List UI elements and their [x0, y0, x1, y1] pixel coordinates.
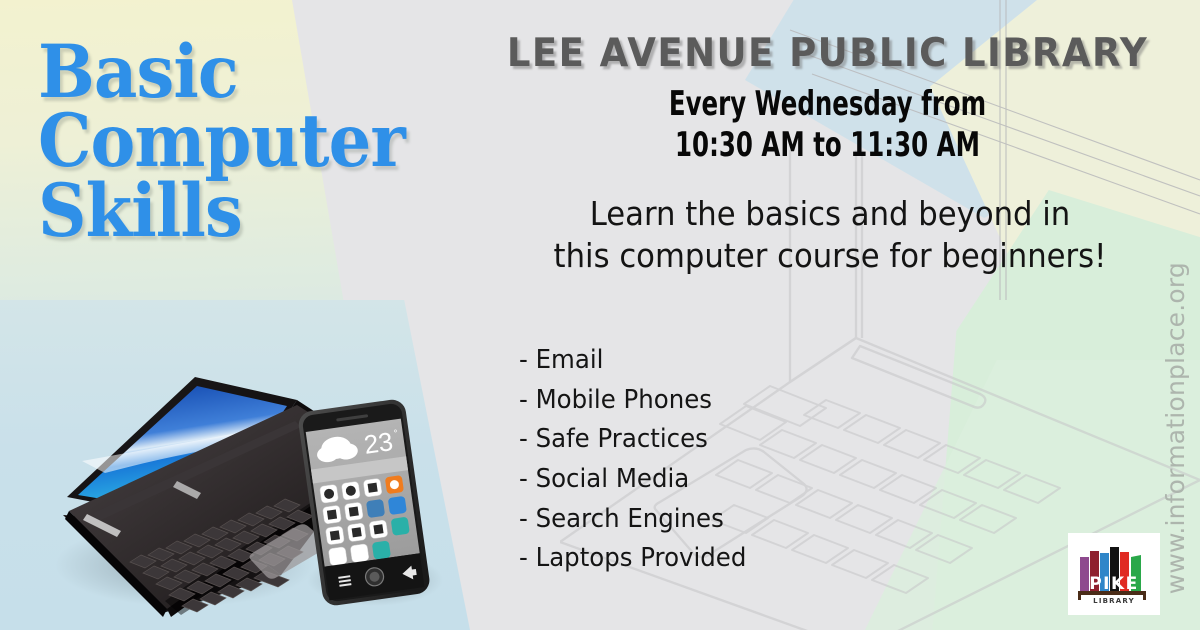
- headline-line-3: Skills: [38, 177, 452, 246]
- list-item: - Email: [519, 341, 746, 381]
- page-title: Basic Computer Skills: [38, 38, 452, 246]
- poster-canvas: 23 °: [0, 0, 1200, 630]
- schedule-line-1: Every Wednesday from: [542, 84, 1114, 125]
- topics-list: - Email - Mobile Phones - Safe Practices…: [519, 341, 746, 579]
- list-item: - Search Engines: [519, 500, 746, 540]
- devices-illustration: 23 °: [45, 365, 515, 630]
- headline-line-1: Basic: [38, 38, 452, 107]
- website-url: www.informationplace.org: [1161, 262, 1190, 594]
- phone-temperature: 23: [362, 426, 395, 460]
- schedule-block: Every Wednesday from 10:30 AM to 11:30 A…: [542, 84, 1114, 167]
- list-item: - Social Media: [519, 460, 746, 500]
- pike-library-logo-icon: PIKE LIBRARY: [1076, 543, 1152, 605]
- list-item: - Safe Practices: [519, 420, 746, 460]
- logo-subtitle: LIBRARY: [1093, 597, 1135, 605]
- schedule-line-2: 10:30 AM to 11:30 AM: [542, 125, 1114, 166]
- library-logo: PIKE LIBRARY: [1068, 533, 1160, 615]
- description-line-1: Learn the basics and beyond in: [505, 193, 1156, 235]
- logo-name: PIKE: [1089, 574, 1139, 594]
- description-block: Learn the basics and beyond in this comp…: [505, 193, 1156, 277]
- list-item: - Laptops Provided: [519, 539, 746, 579]
- description-line-2: this computer course for beginners!: [505, 235, 1156, 277]
- headline-line-2: Computer: [38, 107, 452, 176]
- organization-name: LEE AVENUE PUBLIC LIBRARY: [488, 31, 1167, 76]
- list-item: - Mobile Phones: [519, 381, 746, 421]
